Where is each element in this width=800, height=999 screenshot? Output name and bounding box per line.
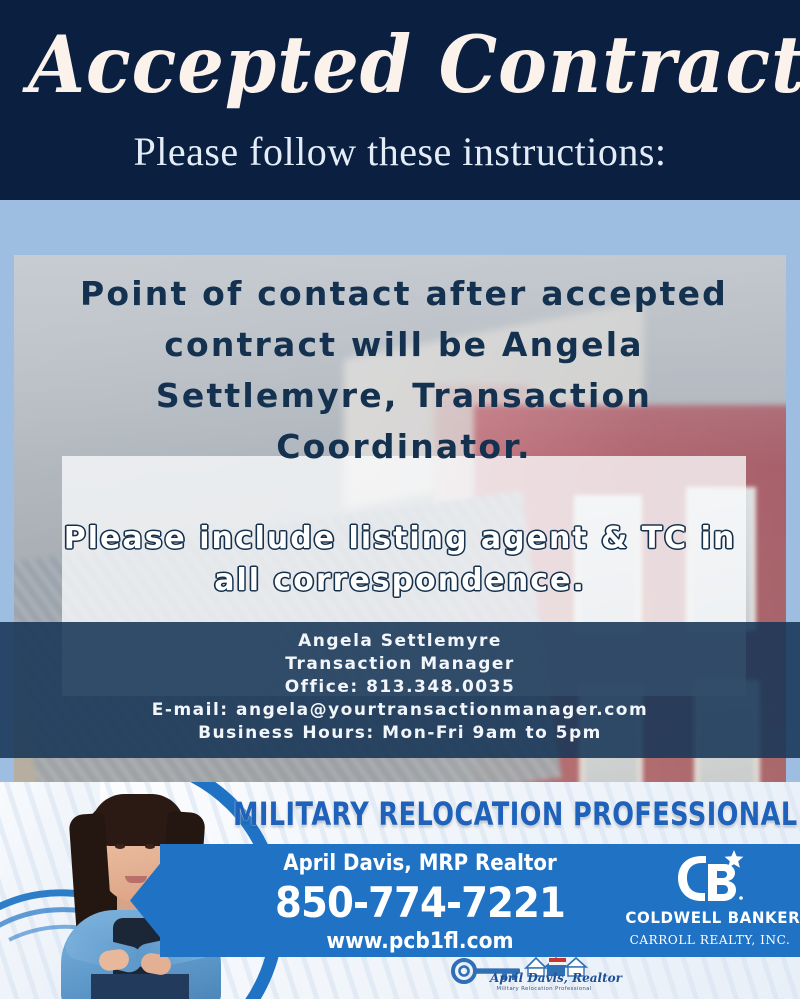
page-title: Accepted Contract [28, 22, 772, 108]
brokerage-subtitle: CARROLL REALTY, INC. [620, 932, 800, 948]
key-logo-subtitle: Military Relocation Professional [490, 985, 598, 993]
contact-office-phone: Office: 813.348.0035 [0, 676, 800, 699]
april-davis-key-logo: April Davis, Realtor Military Relocation… [448, 954, 598, 998]
coldwell-banker-logo: COLDWELL BANKER CARROLL REALTY, INC. [620, 848, 800, 956]
agent-mouth [125, 876, 147, 883]
secondary-message: Please include listing agent & TC in all… [50, 518, 750, 602]
brokerage-name: COLDWELL BANKER [625, 908, 794, 928]
contact-role: Transaction Manager [0, 653, 800, 676]
page-subtitle: Please follow these instructions: [0, 128, 800, 176]
agent-skirt [91, 974, 189, 999]
cb-monogram-icon [672, 850, 750, 906]
header-banner: Accepted Contract Please follow these in… [0, 0, 800, 200]
agent-eye-right [145, 844, 155, 849]
designation-title: MILITARY RELOCATION PROFESSIONAL [233, 794, 737, 834]
agent-name: April Davis, MRP Realtor [222, 850, 618, 878]
key-logo-name: April Davis, Realtor [490, 971, 598, 985]
contact-email: E-mail: angela@yourtransactionmanager.co… [0, 699, 800, 722]
contact-business-hours: Business Hours: Mon-Fri 9am to 5pm [0, 722, 800, 745]
agent-eye-left [115, 844, 125, 849]
agent-website[interactable]: www.pcb1fl.com [218, 928, 623, 956]
agent-phone[interactable]: 850-774-7221 [218, 878, 623, 928]
primary-message: Point of contact after accepted contract… [62, 268, 746, 472]
bottom-banner: MILITARY RELOCATION PROFESSIONAL April D… [0, 782, 800, 999]
contact-details: Angela Settlemyre Transaction Manager Of… [0, 630, 800, 745]
contact-name: Angela Settlemyre [0, 630, 800, 653]
flyer-root: Accepted Contract Please follow these in… [0, 0, 800, 999]
